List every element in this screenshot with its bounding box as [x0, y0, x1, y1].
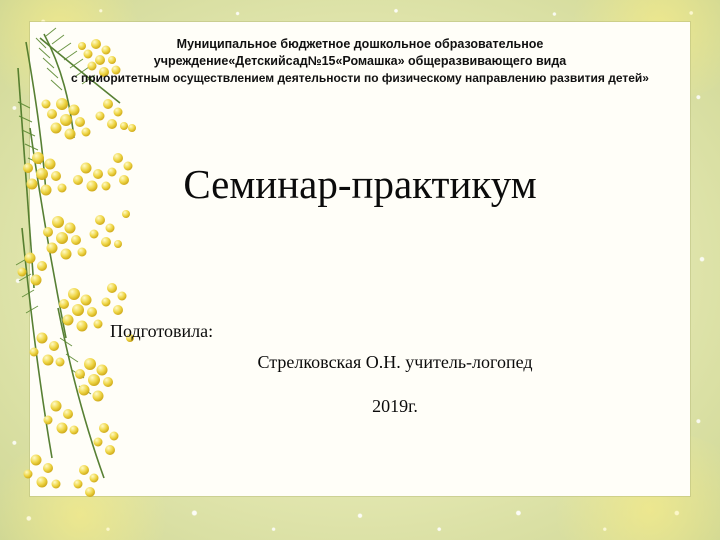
organization-line-3: с приоритетным осуществлением деятельнос… — [34, 70, 686, 87]
organization-line-2: учреждение«Детскийсад№15«Ромашка» общера… — [34, 53, 686, 70]
author-name: Стрелковская О.Н. учитель-логопед — [160, 352, 630, 373]
organization-title: Муниципальное бюджетное дошкольное образ… — [34, 36, 686, 87]
presentation-slide: Муниципальное бюджетное дошкольное образ… — [0, 0, 720, 540]
year-label: 2019г. — [160, 396, 630, 417]
slide-main-title: Семинар-практикум — [34, 160, 686, 208]
slide-content-panel — [30, 22, 690, 496]
organization-line-1: Муниципальное бюджетное дошкольное образ… — [34, 36, 686, 53]
prepared-by-label: Подготовила: — [110, 321, 213, 342]
